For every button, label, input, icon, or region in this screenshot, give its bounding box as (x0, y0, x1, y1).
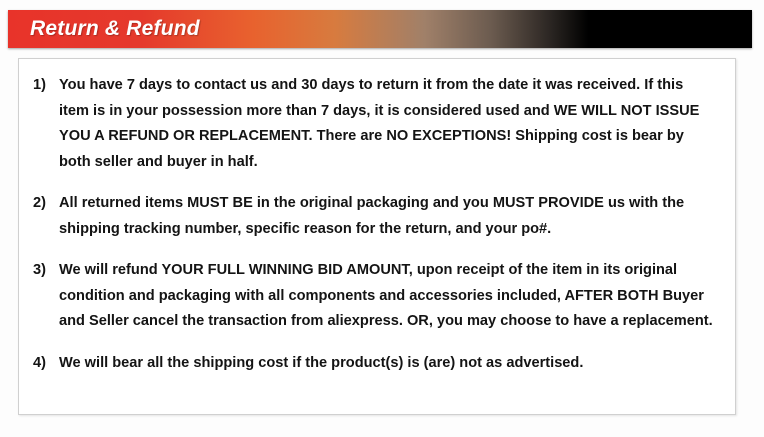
return-refund-page: Return & Refund 1) You have 7 days to co… (0, 0, 764, 437)
policy-item-text: We will bear all the shipping cost if th… (59, 351, 717, 377)
policy-item-text: All returned items MUST BE in the origin… (59, 191, 717, 242)
policy-list: 1) You have 7 days to contact us and 30 … (33, 73, 717, 376)
policy-item: 3) We will refund YOUR FULL WINNING BID … (33, 258, 717, 335)
policy-item-text: We will refund YOUR FULL WINNING BID AMO… (59, 258, 717, 335)
policy-item-marker: 3) (33, 258, 46, 284)
policy-item-marker: 2) (33, 191, 46, 217)
section-title: Return & Refund (30, 17, 200, 41)
policy-content-box: 1) You have 7 days to contact us and 30 … (18, 58, 736, 415)
policy-item: 1) You have 7 days to contact us and 30 … (33, 73, 717, 175)
policy-item: 4) We will bear all the shipping cost if… (33, 351, 717, 377)
policy-item: 2) All returned items MUST BE in the ori… (33, 191, 717, 242)
policy-item-text: You have 7 days to contact us and 30 day… (59, 73, 717, 175)
section-header-banner: Return & Refund (8, 10, 752, 48)
policy-item-marker: 1) (33, 73, 46, 99)
policy-item-marker: 4) (33, 351, 46, 377)
